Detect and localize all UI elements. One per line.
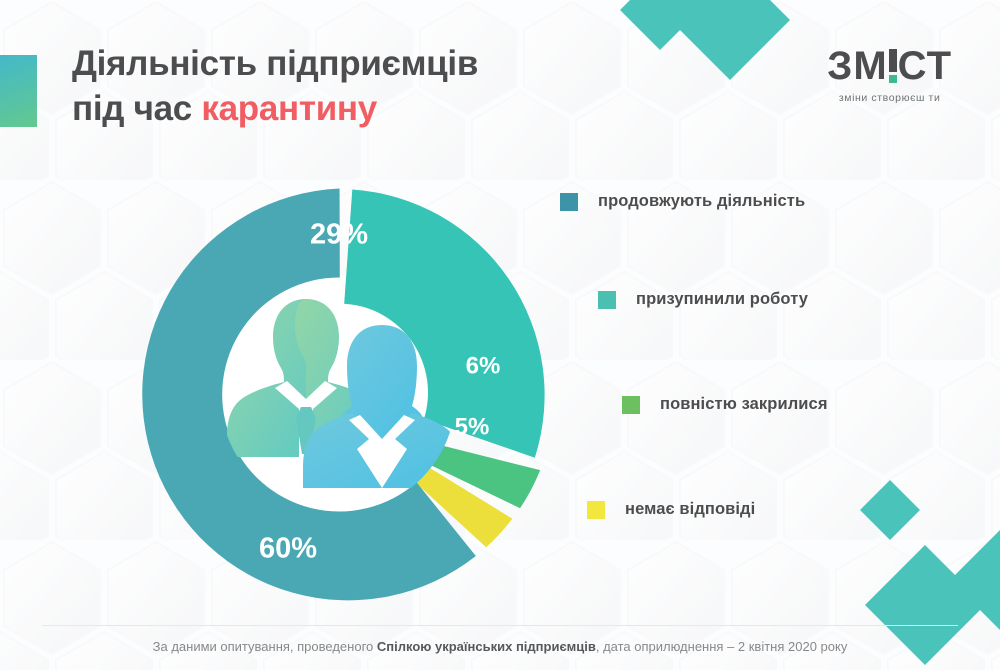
legend-label-closed: повністю закрилися <box>660 395 828 414</box>
infographic-canvas: Діяльність підприємців під час карантину… <box>0 0 1000 670</box>
legend-item-no-answer[interactable]: немає відповіді <box>587 500 755 519</box>
logo-text-part1: ЗМ <box>827 46 887 86</box>
legend-label-no-answer: немає відповіді <box>625 500 755 519</box>
footer-source: За даними опитування, проведеного Спілко… <box>0 639 1000 654</box>
left-accent-bar <box>0 55 37 127</box>
brand-logo: ЗМ СТ зміни створюєш ти <box>827 46 952 104</box>
legend-label-paused: призупинили роботу <box>636 290 808 309</box>
footer-source-name: Спілкою українських підприємців <box>377 639 596 654</box>
slice-label-29: 29% <box>310 219 368 251</box>
diamond-decoration-top <box>620 0 790 80</box>
logo-wordmark: ЗМ СТ <box>827 46 952 86</box>
legend-item-continue[interactable]: продовжують діяльність <box>560 192 805 211</box>
slice-label-60: 60% <box>259 533 317 565</box>
legend-item-closed[interactable]: повністю закрилися <box>622 395 828 414</box>
legend-swatch-icon-no-answer <box>587 501 605 519</box>
footer-text-before: За даними опитування, проведеного <box>153 639 377 654</box>
title-line-2-accent: карантину <box>201 89 377 128</box>
title-line-1: Діяльність підприємців <box>72 44 478 83</box>
logo-tagline: зміни створюєш ти <box>827 92 952 104</box>
chart-legend: продовжують діяльність призупинили робот… <box>540 180 960 530</box>
legend-swatch-icon-paused <box>598 291 616 309</box>
legend-swatch-icon-continue <box>560 193 578 211</box>
page-title: Діяльність підприємців під час карантину <box>72 42 612 132</box>
legend-item-paused[interactable]: призупинили роботу <box>598 290 808 309</box>
footer-text-after: , дата оприлюднення – 2 квітня 2020 року <box>596 639 848 654</box>
donut-chart: 29% 6% 5% 60% <box>120 175 560 615</box>
footer-divider <box>42 625 958 626</box>
slice-label-5: 5% <box>455 413 490 440</box>
exclamation-icon <box>889 49 897 83</box>
title-line-2-plain: під час <box>72 89 201 128</box>
slice-label-6: 6% <box>466 352 501 379</box>
legend-swatch-icon-closed <box>622 396 640 414</box>
legend-label-continue: продовжують діяльність <box>598 192 805 211</box>
logo-text-part2: СТ <box>898 46 952 86</box>
